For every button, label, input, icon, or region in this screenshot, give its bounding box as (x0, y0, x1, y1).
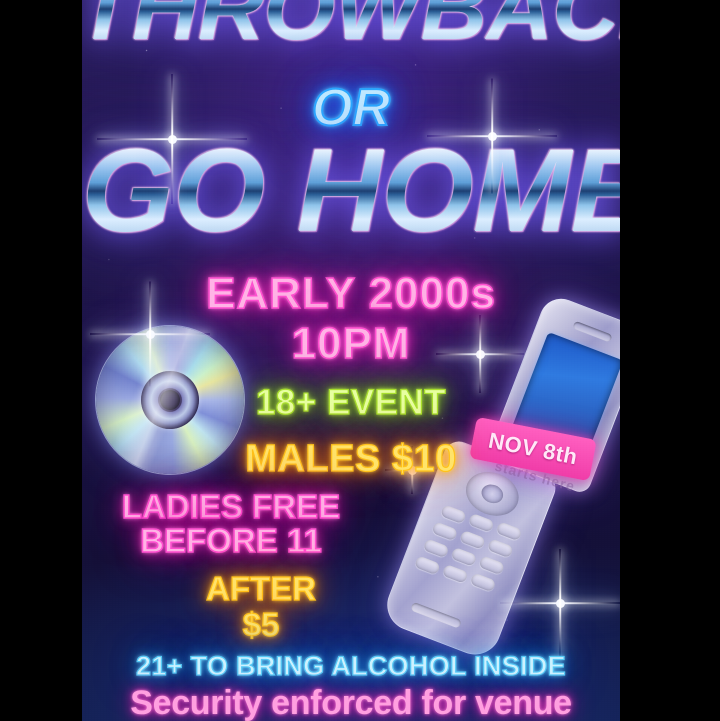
age-policy-line: 18+ EVENT (82, 385, 620, 421)
time-line: 10PM (82, 322, 620, 367)
after-label-line: AFTER (82, 572, 530, 606)
event-flyer-poster: THROWBACK OR GO HOME (82, 0, 620, 721)
ladies-free-line-2: BEFORE 11 (82, 524, 500, 558)
headline-throwback: THROWBACK (82, 0, 620, 54)
ladies-free-line-1: LADIES FREE (82, 490, 500, 524)
males-price-line: MALES $10 (82, 440, 620, 479)
after-price-line: $5 (82, 608, 530, 642)
headline-go-home: GO HOME (82, 132, 620, 250)
alcohol-policy-line: 21+ TO BRING ALCOHOL INSIDE (82, 653, 620, 681)
era-line: EARLY 2000s (82, 272, 620, 317)
security-note-line: Security enforced for venue (82, 686, 620, 721)
letterbox-left (0, 0, 82, 721)
screenshot-canvas: THROWBACK OR GO HOME (0, 0, 720, 721)
letterbox-right (620, 0, 720, 721)
